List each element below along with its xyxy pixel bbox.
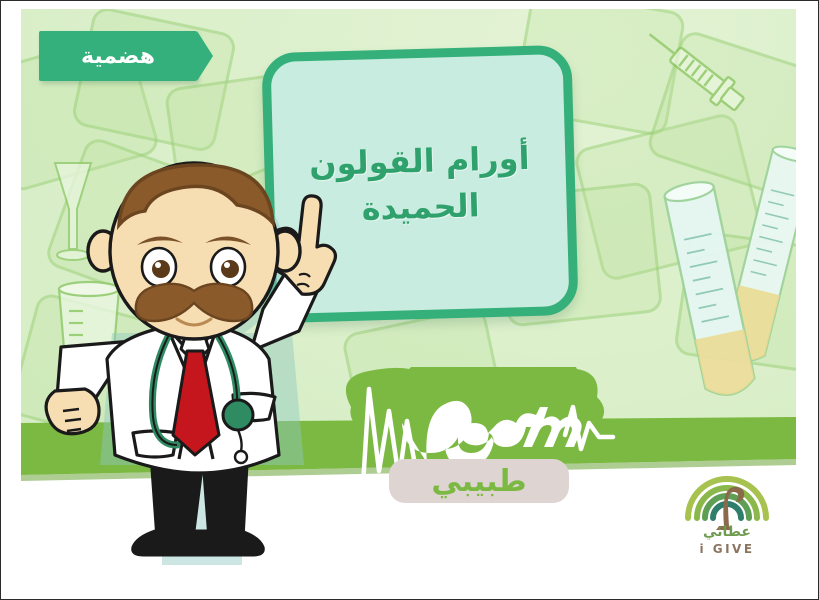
brand-english-label: Doctor bbox=[9, 9, 10, 10]
doctor-character-illustration bbox=[37, 159, 357, 579]
sponsor-logo[interactable]: عطائي i GIVE bbox=[672, 452, 782, 572]
sponsor-english-label: i GIVE bbox=[672, 542, 782, 556]
sponsor-arabic-label: عطائي bbox=[672, 524, 782, 540]
poster-canvas: أورام القولون الحميدة هضمية bbox=[0, 0, 819, 600]
syringe-icon bbox=[641, 27, 761, 137]
poster-page: أورام القولون الحميدة هضمية bbox=[9, 9, 810, 591]
test-tube-icon bbox=[661, 139, 796, 419]
brand-logo[interactable]: طبيبي bbox=[329, 367, 629, 507]
brand-english-prefix: My bbox=[9, 9, 10, 10]
logo-arabic-label: طبيبي bbox=[431, 464, 526, 499]
category-tab-label: هضمية bbox=[81, 44, 155, 69]
category-tab[interactable]: هضمية bbox=[39, 31, 197, 81]
tree-arcs-icon bbox=[672, 452, 782, 530]
